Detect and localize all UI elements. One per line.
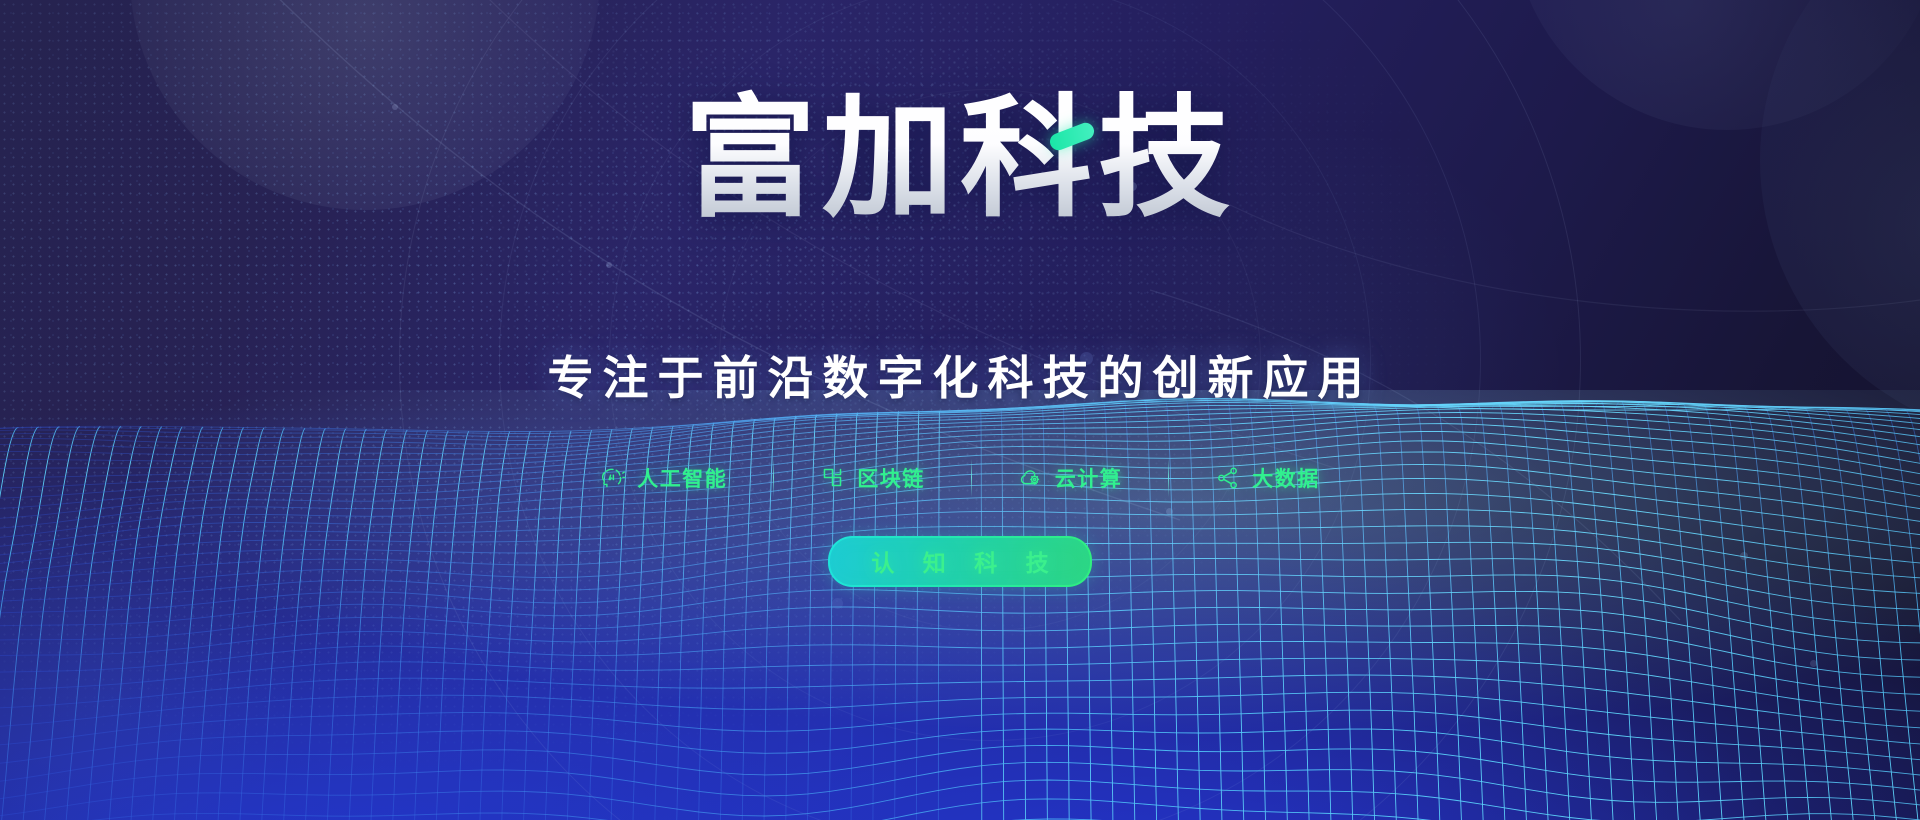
hero-banner: 富加科技 专注于前沿数字化科技的创新应用: [0, 0, 1920, 820]
brand-title: 富加科技: [684, 86, 1236, 231]
cognitive-tech-button[interactable]: 认 知 科 技: [828, 536, 1092, 587]
cognitive-tech-button-label: 认 知 科 技: [860, 544, 1059, 578]
feature-tag-row: 人工智能 区块链: [554, 458, 1366, 498]
feature-tag-blockchain[interactable]: 区块链: [774, 463, 971, 493]
cta-wrapper: 认 知 科 技: [828, 536, 1092, 587]
feature-tag-cloud[interactable]: 云计算: [972, 463, 1169, 493]
feature-tag-label: 云计算: [1055, 463, 1123, 493]
feature-tag-label: 人工智能: [637, 463, 727, 493]
hero-content: 富加科技 专注于前沿数字化科技的创新应用: [0, 0, 1920, 820]
feature-tag-label: 区块链: [857, 463, 925, 493]
brand-subtitle: 专注于前沿数字化科技的创新应用: [548, 342, 1373, 408]
feature-tag-ai[interactable]: 人工智能: [554, 463, 773, 493]
cloud-gear-icon: [1018, 465, 1044, 491]
data-network-icon: [1215, 465, 1241, 491]
feature-tag-label: 大数据: [1252, 463, 1320, 493]
brand-title-text: 富加科技: [684, 85, 1236, 232]
ai-brain-icon: [600, 465, 626, 491]
feature-tag-bigdata[interactable]: 大数据: [1169, 463, 1366, 493]
blockchain-blocks-icon: [820, 465, 846, 491]
